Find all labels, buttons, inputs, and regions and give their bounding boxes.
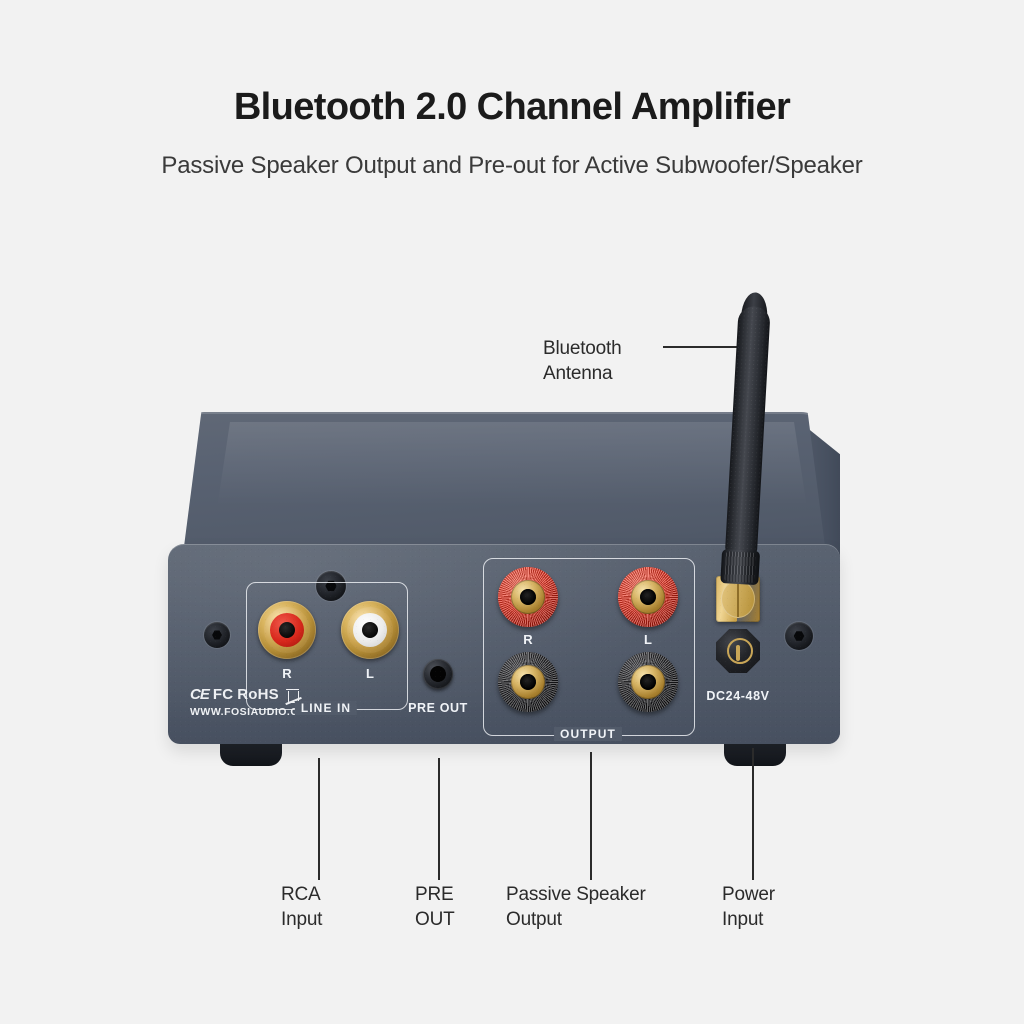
speaker-post-left-negative[interactable]	[618, 652, 678, 712]
page-title: Bluetooth 2.0 Channel Amplifier	[0, 86, 1024, 129]
leader-line-pre-out	[438, 758, 440, 880]
callout-bluetooth-antenna-line1: Bluetooth	[543, 336, 622, 361]
pre-out-label: PRE OUT	[408, 701, 468, 715]
callout-power-input: Power Input	[722, 882, 775, 933]
callout-rca-input-line2: Input	[281, 907, 322, 932]
rca-input-right-label: R	[282, 666, 291, 681]
speaker-post-left-positive[interactable]	[618, 567, 678, 627]
callout-rca-input-line1: RCA	[281, 882, 322, 907]
power-input-voltage-label: DC24-48V	[706, 689, 769, 703]
callout-passive-speaker-line1: Passive Speaker	[506, 882, 646, 907]
callout-pre-out-line2: OUT	[415, 907, 455, 932]
speaker-post-right-positive[interactable]	[498, 567, 558, 627]
callout-pre-out: PRE OUT	[415, 882, 455, 933]
speaker-output-group-label: OUTPUT	[554, 727, 622, 741]
panel-screw-right	[785, 622, 813, 650]
power-input-jack[interactable]	[716, 629, 760, 673]
speaker-post-right-negative[interactable]	[498, 652, 558, 712]
speaker-output-left-label: L	[644, 632, 652, 647]
leader-line-power-input	[752, 748, 754, 880]
page-subtitle: Passive Speaker Output and Pre-out for A…	[0, 152, 1024, 180]
panel-screw-left	[204, 622, 230, 648]
antenna-collar	[720, 549, 760, 585]
rubber-foot-left	[220, 742, 282, 766]
ce-mark-icon: CE	[190, 686, 209, 703]
callout-passive-speaker-line2: Output	[506, 907, 646, 932]
leader-line-rca-input	[318, 758, 320, 880]
rubber-foot-right	[724, 742, 786, 766]
fcc-mark-icon: FC	[213, 686, 233, 703]
leader-line-passive-speaker	[590, 752, 592, 880]
callout-bluetooth-antenna: Bluetooth Antenna	[543, 336, 622, 387]
rca-input-left-jack[interactable]	[341, 601, 399, 659]
rca-input-left-label: L	[366, 666, 374, 681]
speaker-output-right-label: R	[523, 632, 532, 647]
callout-power-input-line1: Power	[722, 882, 775, 907]
callout-pre-out-line1: PRE	[415, 882, 455, 907]
callout-rca-input: RCA Input	[281, 882, 322, 933]
infographic-canvas: Bluetooth 2.0 Channel Amplifier Passive …	[0, 0, 1024, 1024]
callout-passive-speaker-output: Passive Speaker Output	[506, 882, 646, 933]
rca-input-right-jack[interactable]	[258, 601, 316, 659]
callout-power-input-line2: Input	[722, 907, 775, 932]
callout-bluetooth-antenna-line2: Antenna	[543, 361, 622, 386]
pre-out-jack[interactable]	[423, 659, 453, 689]
antenna-rod	[725, 306, 771, 555]
line-in-group-label: LINE IN	[295, 701, 357, 715]
